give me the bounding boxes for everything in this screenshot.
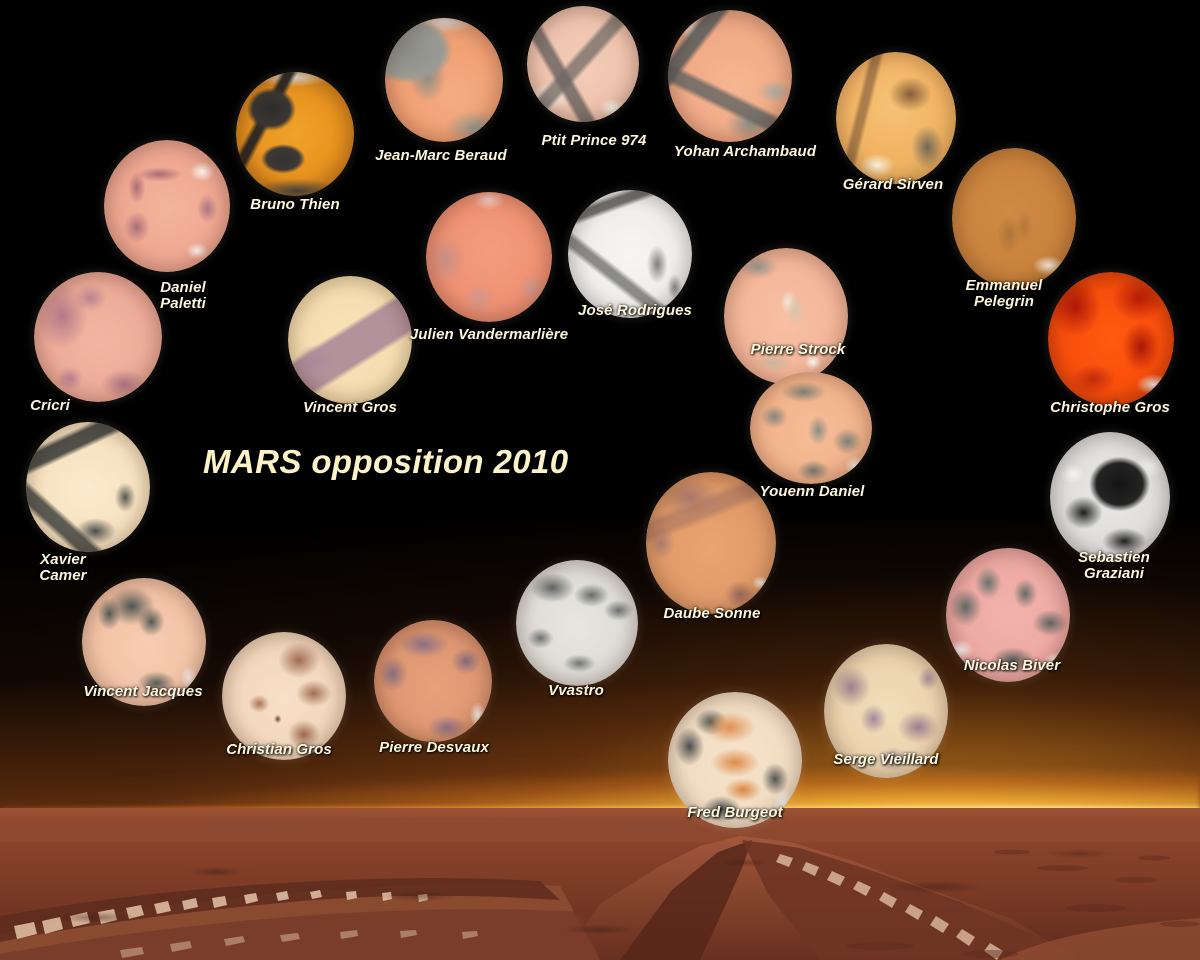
mars-disk-ptit-prince-974 xyxy=(527,6,639,122)
disk-limb xyxy=(104,140,230,272)
disk-limb xyxy=(385,18,503,142)
mars-disk-vincent-gros xyxy=(288,276,412,404)
mars-disk-gerard-sirven xyxy=(836,52,956,184)
label-xavier-camer-line2: Camer xyxy=(39,568,86,584)
disk-limb xyxy=(750,372,872,484)
mars-disk-yohan-archambaud xyxy=(668,10,792,142)
mars-disk-christophe-gros xyxy=(1048,272,1174,406)
mars-disk-sebastien-graziani xyxy=(1050,432,1170,562)
label-vvastro: Vvastro xyxy=(548,683,604,699)
mars-disk-cricri xyxy=(34,272,162,402)
label-yohan-archambaud: Yohan Archambaud xyxy=(674,144,816,160)
label-ptit-prince-974: Ptit Prince 974 xyxy=(542,133,647,149)
disk-limb xyxy=(527,6,639,122)
label-vincent-gros: Vincent Gros xyxy=(303,400,397,416)
disk-limb xyxy=(288,276,412,404)
mars-disk-youenn-daniel xyxy=(750,372,872,484)
disk-limb xyxy=(426,192,552,322)
disk-limb xyxy=(668,10,792,142)
label-sebastien-graziani-line1: Sebastien xyxy=(1078,550,1150,566)
mars-disk-pierre-strock xyxy=(724,248,848,384)
mars-landscape xyxy=(0,808,1200,960)
mars-disk-jean-marc-beraud xyxy=(385,18,503,142)
label-pierre-desvaux: Pierre Desvaux xyxy=(379,740,489,756)
label-emmanuel-pelegrin-line1: Emmanuel xyxy=(966,278,1043,294)
label-xavier-camer-line1: Xavier xyxy=(40,552,86,568)
disk-limb xyxy=(1050,432,1170,562)
label-sebastien-graziani-line2: Graziani xyxy=(1084,566,1144,582)
mars-disk-vvastro xyxy=(516,560,638,686)
disk-limb xyxy=(516,560,638,686)
label-julien-vandermarliere: Julien Vandermarlière xyxy=(410,327,568,343)
disk-limb xyxy=(26,422,150,552)
mars-disk-jose-rodrigues xyxy=(568,190,692,318)
disk-limb xyxy=(374,620,492,742)
mars-disk-xavier-camer xyxy=(26,422,150,552)
disk-limb xyxy=(568,190,692,318)
label-bruno-thien: Bruno Thien xyxy=(250,197,339,213)
label-serge-vieillard: Serge Vieillard xyxy=(833,752,938,768)
label-gerard-sirven: Gérard Sirven xyxy=(843,177,944,193)
label-jose-rodrigues: José Rodrigues xyxy=(578,303,692,319)
disk-limb xyxy=(952,148,1076,288)
disk-limb xyxy=(836,52,956,184)
label-emmanuel-pelegrin-line2: Pelegrin xyxy=(974,294,1034,310)
label-fred-burgeot: Fred Burgeot xyxy=(687,805,782,821)
mars-disk-pierre-desvaux xyxy=(374,620,492,742)
label-daniel-paletti-line2: Paletti xyxy=(160,296,206,312)
label-pierre-strock: Pierre Strock xyxy=(751,342,846,358)
canyon-ridge xyxy=(0,808,1200,960)
label-nicolas-biver: Nicolas Biver xyxy=(964,658,1060,674)
mars-disk-bruno-thien xyxy=(236,72,354,196)
disk-limb xyxy=(646,472,776,614)
label-christophe-gros: Christophe Gros xyxy=(1050,400,1170,416)
label-jean-marc-beraud: Jean-Marc Beraud xyxy=(375,148,507,164)
mars-opposition-poster: MARS opposition 2010 Bruno Thien Jean-Ma… xyxy=(0,0,1200,960)
mars-disk-julien-vandermarliere xyxy=(426,192,552,322)
disk-limb xyxy=(1048,272,1174,406)
disk-limb xyxy=(724,248,848,384)
label-daube-sonne: Daube Sonne xyxy=(664,606,761,622)
disk-limb xyxy=(34,272,162,402)
label-vincent-jacques: Vincent Jacques xyxy=(83,684,202,700)
mars-disk-daniel-paletti xyxy=(104,140,230,272)
page-title: MARS opposition 2010 xyxy=(203,443,569,481)
mars-disk-emmanuel-pelegrin xyxy=(952,148,1076,288)
disk-limb xyxy=(236,72,354,196)
label-cricri: Cricri xyxy=(30,398,70,414)
label-daniel-paletti-line1: Daniel xyxy=(160,280,206,296)
label-youenn-daniel: Youenn Daniel xyxy=(760,484,865,500)
mars-disk-daube-sonne xyxy=(646,472,776,614)
label-christian-gros: Christian Gros xyxy=(226,742,332,758)
